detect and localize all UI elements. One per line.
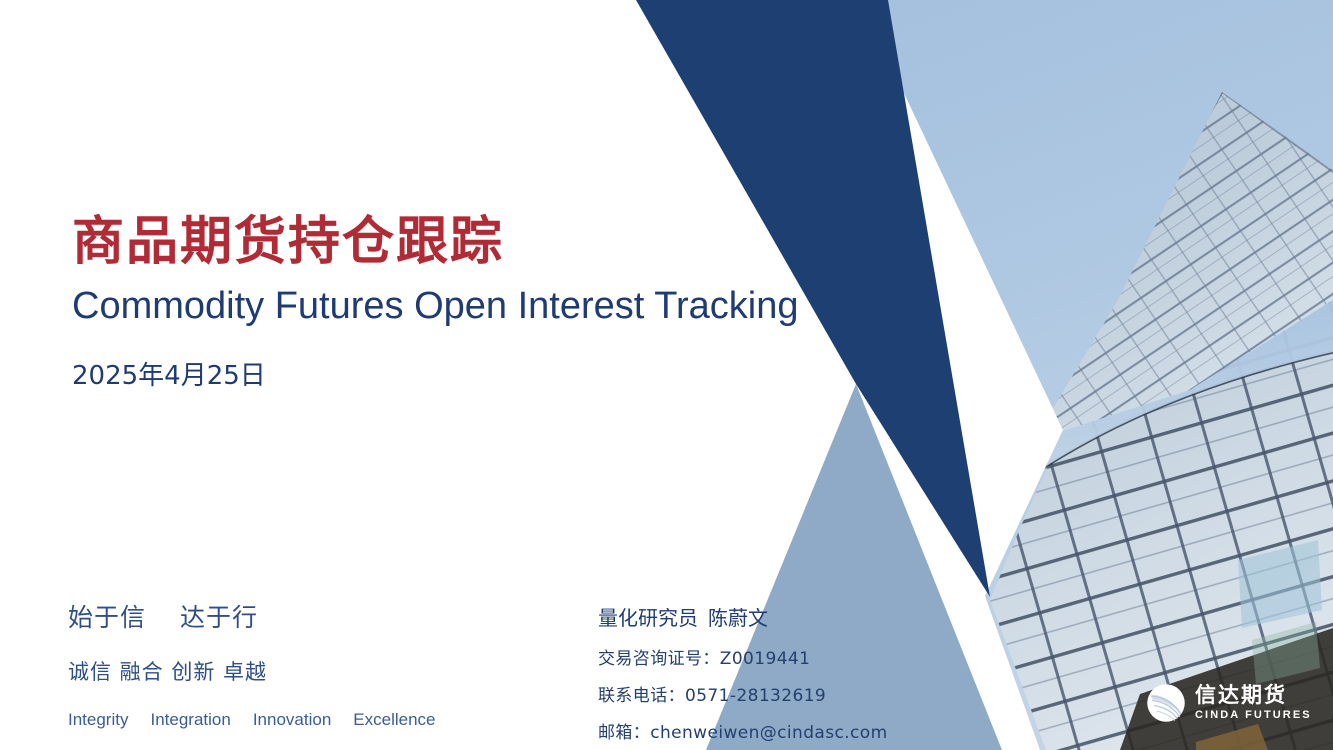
slogan-english-1: Integrity <box>68 710 128 730</box>
page-title-chinese: 商品期货持仓跟踪 <box>72 212 799 273</box>
slogan-english-2: Integration <box>150 710 230 730</box>
logo-name-english: CINDA FUTURES <box>1195 710 1312 721</box>
contact-block: 量化研究员陈蔚文 交易咨询证号：Z0019441 联系电话：0571-28132… <box>598 602 888 743</box>
logo-name-chinese: 信达期货 <box>1195 685 1312 706</box>
slogan-block: 始于信达于行 诚信 融合 创新 卓越 IntegrityIntegrationI… <box>68 598 436 730</box>
email-address: 邮箱：chenweiwen@cindasc.com <box>598 718 888 743</box>
analyst-name: 陈蔚文 <box>708 606 768 630</box>
analyst-role: 量化研究员 <box>598 606 698 630</box>
title-block: 商品期货持仓跟踪 Commodity Futures Open Interest… <box>72 212 799 392</box>
page-title-english: Commodity Futures Open Interest Tracking <box>72 281 799 332</box>
slogan-main-right: 达于行 <box>180 603 258 632</box>
slogan-main-left: 始于信 <box>68 603 146 632</box>
cover-slide: 商品期货持仓跟踪 Commodity Futures Open Interest… <box>0 0 1333 750</box>
leaf-swoosh-circle-icon <box>1146 683 1186 723</box>
slogan-english-4: Excellence <box>353 710 435 730</box>
logo-text: 信达期货 CINDA FUTURES <box>1195 685 1312 721</box>
slogan-english: IntegrityIntegrationInnovationExcellence <box>68 710 436 730</box>
license-number: 交易咨询证号：Z0019441 <box>598 644 888 669</box>
slogan-sub: 诚信 融合 创新 卓越 <box>68 656 436 686</box>
phone-number: 联系电话：0571-28132619 <box>598 681 888 706</box>
publication-date: 2025年4月25日 <box>72 355 799 392</box>
analyst-line: 量化研究员陈蔚文 <box>598 602 888 631</box>
company-logo: 信达期货 CINDA FUTURES <box>1146 683 1312 723</box>
slogan-english-3: Innovation <box>253 710 331 730</box>
slogan-main: 始于信达于行 <box>68 598 436 634</box>
